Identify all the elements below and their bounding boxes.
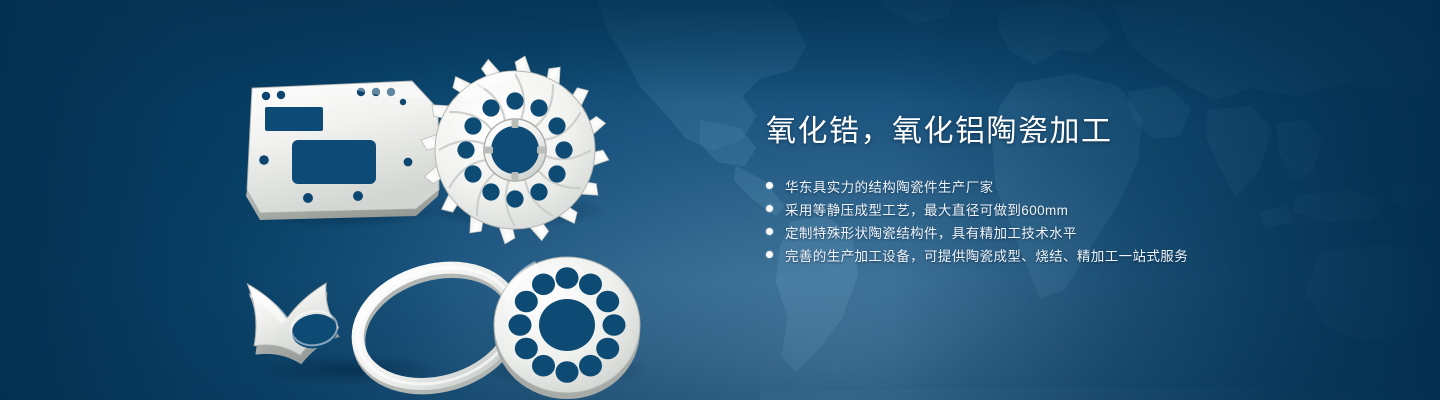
bullet-dot-icon: [766, 251, 773, 258]
list-item-label: 定制特殊形状陶瓷结构件，具有精加工技术水平: [785, 222, 1077, 242]
list-item: 华东具实力的结构陶瓷件生产厂家: [766, 174, 1326, 197]
list-item-label: 采用等静压成型工艺，最大直径可做到600mm: [785, 199, 1068, 219]
list-item: 采用等静压成型工艺，最大直径可做到600mm: [766, 197, 1326, 220]
ceramic-products-photo: [230, 40, 700, 380]
list-item: 定制特殊形状陶瓷结构件，具有精加工技术水平: [766, 220, 1326, 243]
ceramic-perforated-disc-part: [494, 257, 640, 399]
list-item-label: 完善的生产加工设备，可提供陶瓷成型、烧结、精加工一站式服务: [785, 245, 1188, 265]
page-title: 氧化锆，氧化铝陶瓷加工: [766, 112, 1326, 152]
bullet-dot-icon: [766, 228, 773, 235]
banner-copy: 氧化锆，氧化铝陶瓷加工 华东具实力的结构陶瓷件生产厂家 采用等静压成型工艺，最大…: [766, 112, 1326, 266]
ceramic-plate-part: [246, 76, 442, 220]
feature-list: 华东具实力的结构陶瓷件生产厂家 采用等静压成型工艺，最大直径可做到600mm 定…: [766, 174, 1326, 266]
bullet-dot-icon: [766, 182, 773, 189]
hero-banner: 氧化锆，氧化铝陶瓷加工 华东具实力的结构陶瓷件生产厂家 采用等静压成型工艺，最大…: [0, 0, 1440, 400]
bullet-dot-icon: [766, 205, 773, 212]
list-item: 完善的生产加工设备，可提供陶瓷成型、烧结、精加工一站式服务: [766, 243, 1326, 266]
list-item-label: 华东具实力的结构陶瓷件生产厂家: [785, 176, 994, 196]
